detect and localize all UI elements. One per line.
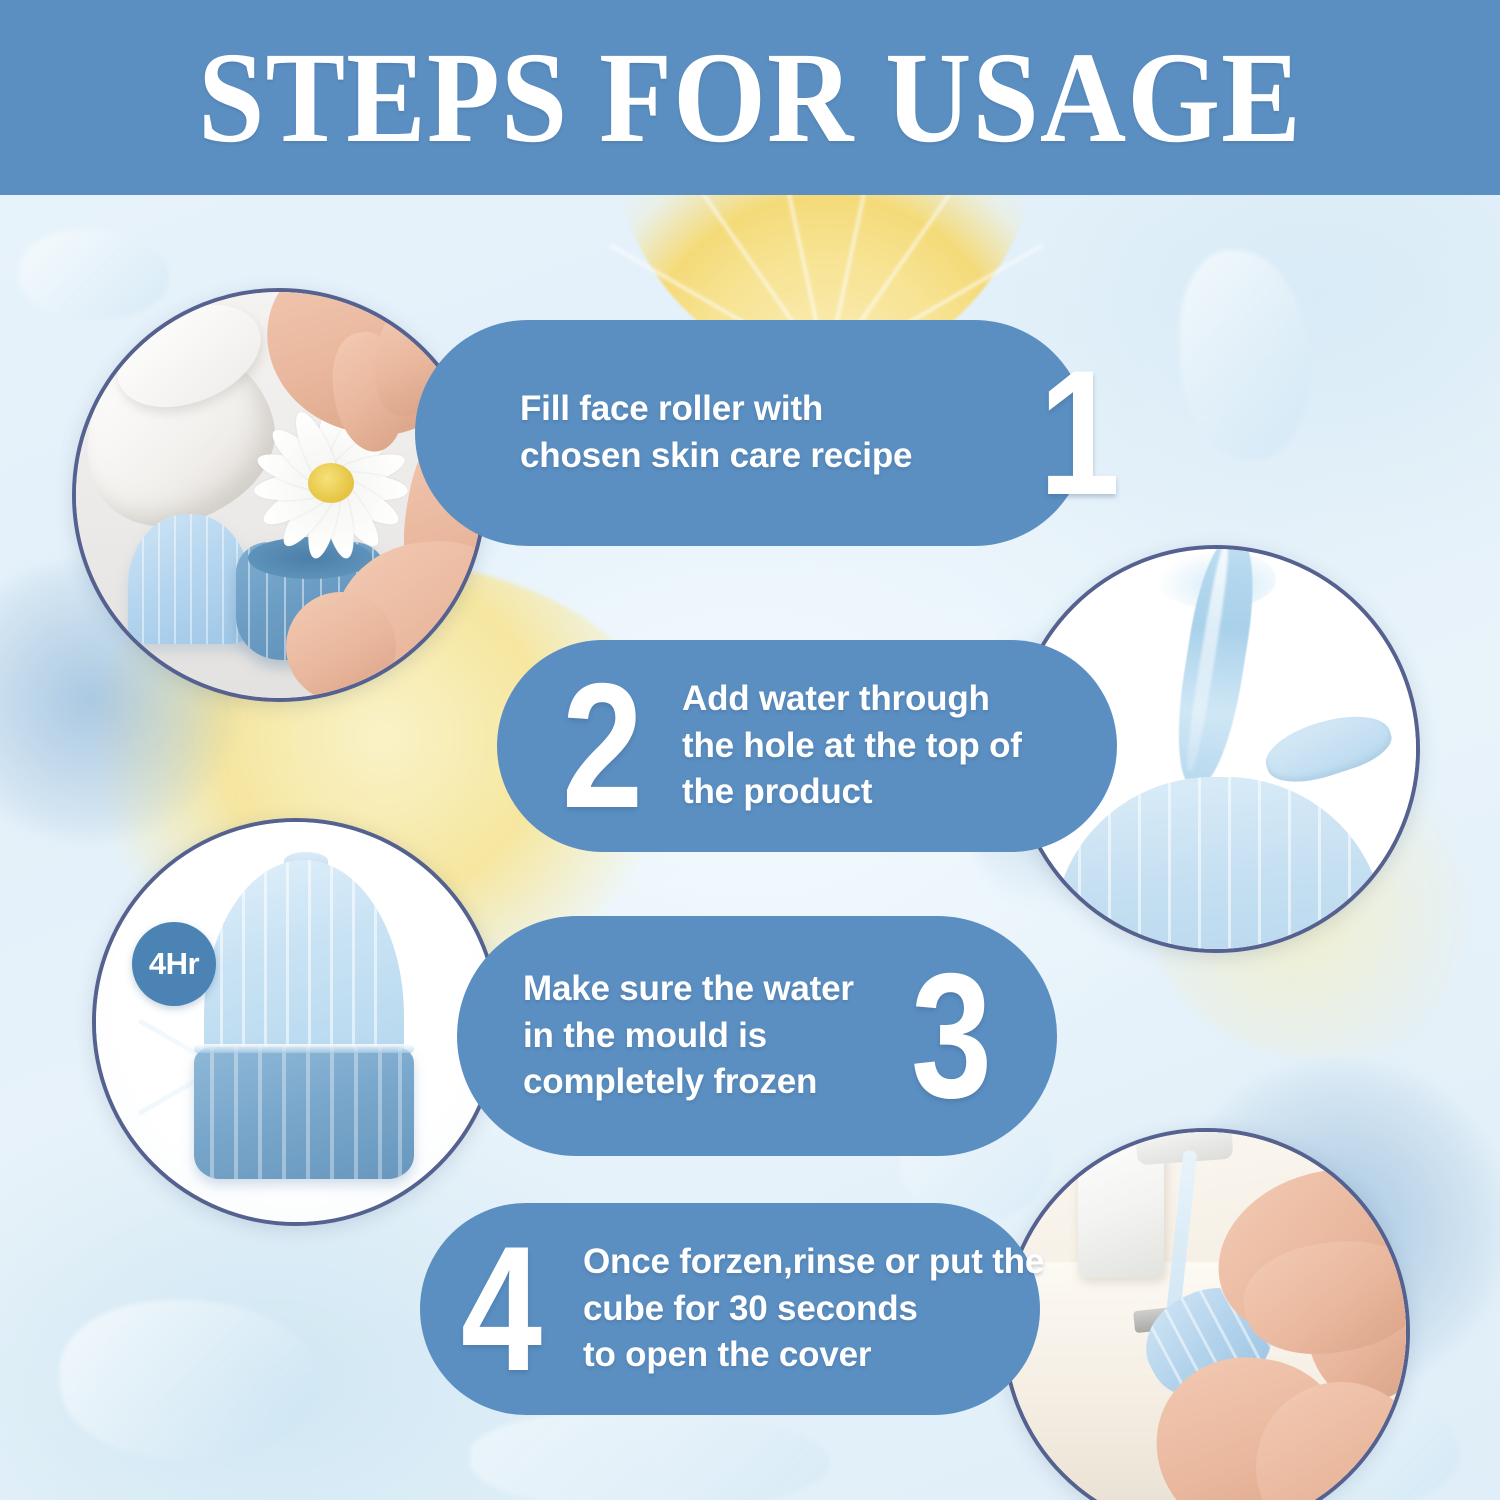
step-3-callout: Make sure the water in the mould is comp… — [457, 916, 1057, 1156]
mould-body — [1054, 777, 1384, 953]
step-4-callout: 4 Once forzen,rinse or put the cube for … — [420, 1203, 1040, 1415]
mould-spout — [1259, 703, 1397, 794]
step-1-callout: Fill face roller with chosen skin care r… — [415, 320, 1087, 546]
header-banner: STEPS FOR USAGE — [0, 0, 1500, 195]
step-3-number: 3 — [911, 960, 992, 1111]
step-4-photo — [1002, 1128, 1410, 1500]
thumb — [286, 592, 396, 702]
mould-cap — [128, 514, 250, 644]
step-4-number: 4 — [461, 1233, 542, 1384]
infographic-canvas: STEPS FOR USAGE Fill face roller with ch… — [0, 0, 1500, 1500]
mould-base — [194, 1047, 414, 1179]
page-title: STEPS FOR USAGE — [198, 33, 1302, 163]
step-3-text: Make sure the water in the mould is comp… — [523, 966, 854, 1106]
freeze-time-badge: 4Hr — [132, 922, 216, 1006]
ice-texture — [1180, 250, 1310, 460]
mould-seam — [194, 1044, 414, 1053]
mould-cap — [204, 860, 404, 1060]
step-1-photo — [72, 288, 486, 702]
step-3-photo: 4Hr — [92, 818, 500, 1226]
step-2-text: Add water through the hole at the top of… — [682, 676, 1022, 816]
step-2-callout: 2 Add water through the hole at the top … — [497, 640, 1117, 852]
ice-texture — [470, 1410, 830, 1500]
step-2-number: 2 — [562, 670, 643, 821]
ice-texture — [60, 1300, 320, 1460]
step-1-number: 1 — [1039, 357, 1120, 508]
step-4-text: Once forzen,rinse or put the cube for 30… — [583, 1239, 1044, 1379]
step-1-text: Fill face roller with chosen skin care r… — [520, 386, 912, 479]
